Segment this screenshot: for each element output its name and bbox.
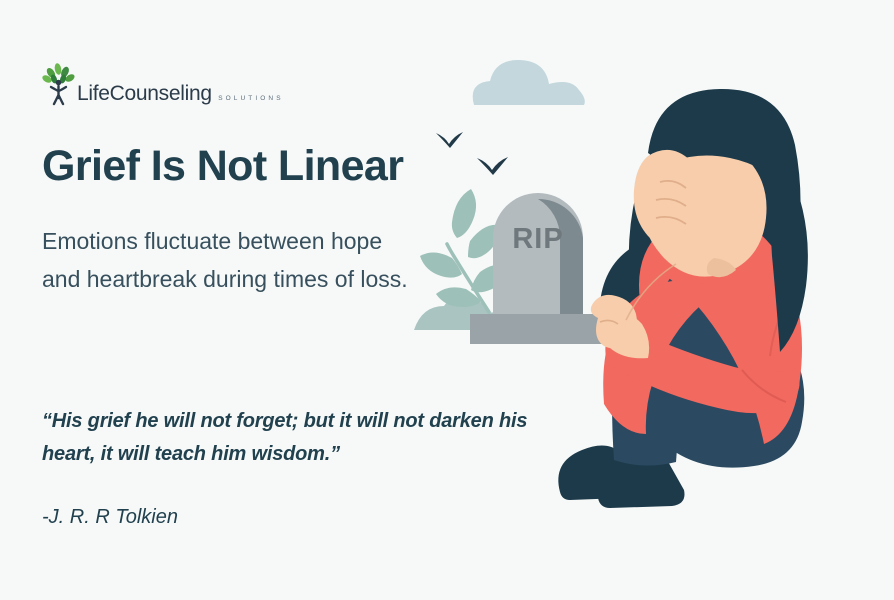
finger-line-2 bbox=[656, 199, 686, 206]
logo-title: LifeCounseling bbox=[77, 82, 212, 105]
hand-finger-line bbox=[600, 320, 618, 324]
grieving-woman bbox=[558, 89, 808, 508]
gravestone: RIP bbox=[470, 193, 605, 344]
finger-line-3 bbox=[656, 217, 686, 224]
woman-hair-right bbox=[771, 168, 808, 352]
woman-sweater-front bbox=[603, 280, 720, 434]
page-title: Grief Is Not Linear bbox=[42, 140, 403, 192]
woman-hair-left bbox=[629, 160, 663, 344]
woman-hair-fringe bbox=[644, 119, 792, 198]
plant-leaves bbox=[420, 189, 511, 312]
woman-shoe-front bbox=[597, 449, 684, 508]
woman-face bbox=[640, 138, 767, 277]
bird-right-icon bbox=[477, 157, 508, 175]
arm-outline bbox=[626, 264, 676, 320]
logo-subtitle: SOLUTIONS bbox=[216, 95, 283, 102]
woman-hip bbox=[638, 299, 804, 468]
poster-canvas: RIP bbox=[0, 0, 894, 600]
finger-line-1 bbox=[660, 181, 686, 188]
brand-logo[interactable]: LifeCounseling SOLUTIONS bbox=[42, 62, 284, 106]
woman-hand-covering-face bbox=[634, 150, 704, 246]
bush bbox=[414, 296, 511, 330]
woman-knee-back bbox=[599, 234, 732, 336]
quote-text: “His grief he will not forget; but it wi… bbox=[42, 405, 562, 471]
woman-neck bbox=[695, 229, 733, 271]
woman-forearm bbox=[599, 313, 649, 358]
tree-person-icon bbox=[42, 62, 76, 106]
woman-shoulder bbox=[639, 207, 764, 324]
woman-arm-wrapping bbox=[605, 322, 799, 413]
chin-shading bbox=[707, 258, 736, 277]
woman-hand-gripping bbox=[591, 295, 637, 348]
woman-hair-back bbox=[648, 89, 801, 325]
bird-left-icon bbox=[436, 132, 463, 148]
quote-attribution: -J. R. R Tolkien bbox=[42, 503, 178, 531]
gravestone-rip-text: RIP bbox=[512, 223, 563, 255]
woman-shoe-back bbox=[558, 445, 634, 500]
sweater-crease bbox=[770, 296, 790, 356]
woman-sweater-body bbox=[652, 210, 802, 444]
logo-wordmark: LifeCounseling SOLUTIONS bbox=[77, 83, 284, 105]
cloud-icon bbox=[473, 60, 585, 105]
woman-knee-front bbox=[651, 236, 796, 344]
subheadline-text: Emotions fluctuate between hope and hear… bbox=[42, 222, 412, 298]
arm-crease bbox=[742, 370, 786, 402]
woman-pants-lower bbox=[612, 330, 678, 466]
gravestone-base bbox=[470, 314, 605, 344]
